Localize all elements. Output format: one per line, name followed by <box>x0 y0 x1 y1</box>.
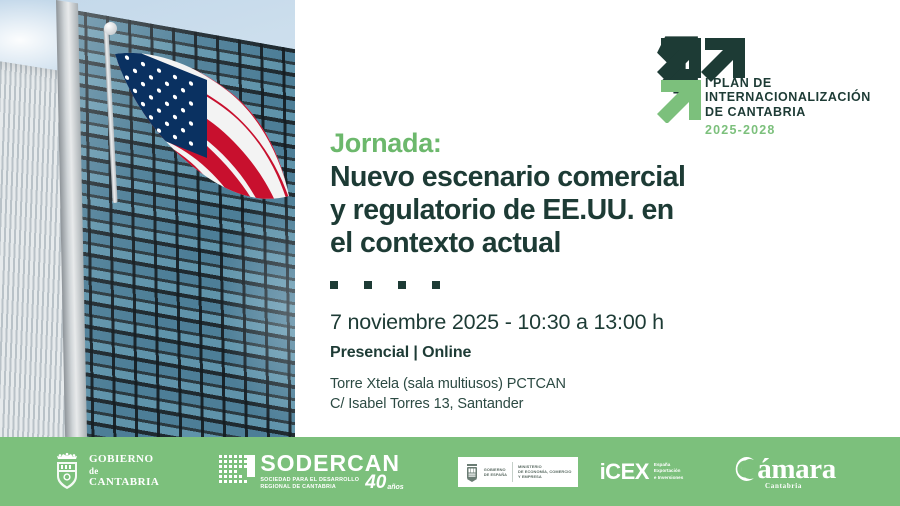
espana-coat-of-arms-icon <box>464 461 480 483</box>
hero-photo <box>0 0 295 437</box>
espana-divider <box>512 462 513 482</box>
espana-line-2: DE ESPAÑA <box>484 472 507 477</box>
sodercan-logo-text: SODERCAN SOCIEDAD PARA EL DESARROLLO REG… <box>260 452 403 491</box>
logo-icex: iCEX España Exportación e Inversiones <box>600 461 684 483</box>
plan-internacionalizacion-logo: I PLAN DE INTERNACIONALIZACIÓN DE CANTAB… <box>655 18 885 130</box>
headline-line-3: el contexto actual <box>330 227 875 260</box>
cantabria-logo-text: GOBIERNO de CANTABRIA <box>89 454 159 489</box>
logo-camara: ámara Cantabria <box>731 454 836 490</box>
ministerio-text: MINISTERIO DE ECONOMÍA, COMERCIO Y EMPRE… <box>518 464 572 479</box>
flag-pole-finial <box>104 22 117 35</box>
icex-tag-2: Exportación <box>654 468 683 474</box>
ministerio-line-3: Y EMPRESA <box>518 474 572 479</box>
cantabria-line-3: CANTABRIA <box>89 477 159 489</box>
headline-line-2: y regulatorio de EE.UU. en <box>330 194 875 227</box>
anniversary-number: 40 <box>365 475 386 491</box>
logo-gobierno-de-cantabria: GOBIERNO de CANTABRIA <box>52 452 159 492</box>
event-mode: Presencial | Online <box>330 342 875 364</box>
sodercan-tagline: SOCIEDAD PARA EL DESARROLLO REGIONAL DE … <box>260 477 359 491</box>
anniversary-sub: años <box>387 484 403 491</box>
logo-gobierno-de-espana: GOBIERNO DE ESPAÑA MINISTERIO DE ECONOMÍ… <box>458 457 578 487</box>
dot-icon <box>364 281 372 289</box>
sodercan-anniversary: 40 años <box>365 475 403 491</box>
venue-line-2: C/ Isabel Torres 13, Santander <box>330 395 875 415</box>
icex-tag-3: e Inversiones <box>654 475 683 481</box>
headline-line-1: Nuevo escenario comercial <box>330 161 875 194</box>
event-headline: Nuevo escenario comercial y regulatorio … <box>330 161 875 260</box>
icex-tagline: España Exportación e Inversiones <box>654 462 683 481</box>
camara-c-icon <box>731 454 757 484</box>
sodercan-tag-2: REGIONAL DE CANTABRIA <box>260 484 359 491</box>
venue-line-1: Torre Xtela (sala multiusos) PCTCAN <box>330 375 875 395</box>
decorative-dots <box>330 281 875 289</box>
dot-icon <box>432 281 440 289</box>
sponsor-footer: GOBIERNO de CANTABRIA <box>0 437 900 506</box>
us-flag-icon <box>113 48 293 213</box>
dot-icon <box>330 281 338 289</box>
event-kicker: Jornada: <box>330 128 875 158</box>
espana-logo-box: GOBIERNO DE ESPAÑA MINISTERIO DE ECONOMÍ… <box>458 457 578 487</box>
espana-text: GOBIERNO DE ESPAÑA <box>484 467 507 477</box>
plan-logo-line-2: INTERNACIONALIZACIÓN <box>705 90 890 104</box>
event-venue: Torre Xtela (sala multiusos) PCTCAN C/ I… <box>330 375 875 414</box>
cantabria-crest-icon <box>52 452 82 492</box>
event-content: Jornada: Nuevo escenario comercial y reg… <box>330 128 875 414</box>
sodercan-tag-1: SOCIEDAD PARA EL DESARROLLO <box>260 477 359 484</box>
logo-sodercan: SODERCAN SOCIEDAD PARA EL DESARROLLO REG… <box>219 452 403 491</box>
sodercan-mark-icon <box>219 455 255 489</box>
icex-title: iCEX <box>600 461 649 483</box>
camara-title: ámara <box>757 454 836 484</box>
espana-line-1: GOBIERNO <box>484 467 507 472</box>
dot-icon <box>398 281 406 289</box>
event-date: 7 noviembre 2025 - 10:30 a 13:00 h <box>330 309 875 335</box>
plan-logo-line-3: DE CANTABRIA <box>705 105 890 119</box>
cantabria-line-1: GOBIERNO <box>89 454 159 466</box>
plan-logo-line-1: I PLAN DE <box>705 76 890 90</box>
